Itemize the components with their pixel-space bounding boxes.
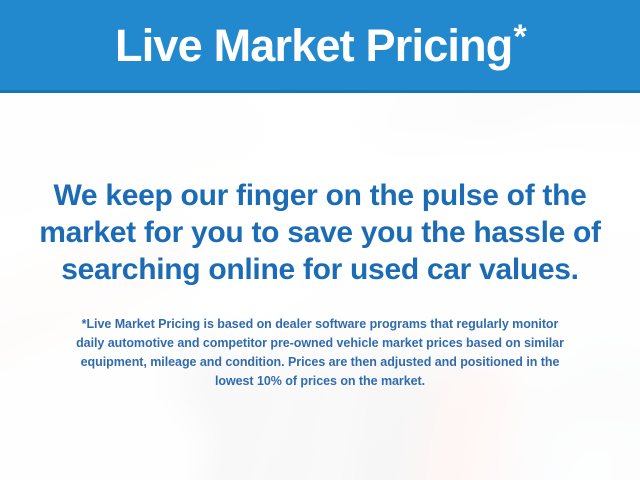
banner-title-asterisk: * xyxy=(514,18,526,56)
headline: We keep our finger on the pulse of the m… xyxy=(0,177,640,288)
live-market-pricing-card: Live Market Pricing* We keep our finger … xyxy=(0,0,640,480)
fineprint-line-3: equipment, mileage and condition. Prices… xyxy=(22,353,618,372)
headline-line-2: market for you to save you the hassle of xyxy=(18,214,622,251)
headline-line-1: We keep our finger on the pulse of the xyxy=(18,177,622,214)
card-content: We keep our finger on the pulse of the m… xyxy=(0,93,640,480)
fineprint-line-2: daily automotive and competitor pre-owne… xyxy=(22,334,618,353)
banner-title: Live Market Pricing* xyxy=(115,23,525,68)
fineprint-disclaimer: *Live Market Pricing is based on dealer … xyxy=(0,315,640,391)
fineprint-line-1: *Live Market Pricing is based on dealer … xyxy=(22,315,618,334)
fineprint-line-4: lowest 10% of prices on the market. xyxy=(22,372,618,391)
banner-title-text: Live Market Pricing xyxy=(115,20,512,71)
headline-line-3: searching online for used car values. xyxy=(18,251,622,288)
header-banner: Live Market Pricing* xyxy=(0,0,640,93)
